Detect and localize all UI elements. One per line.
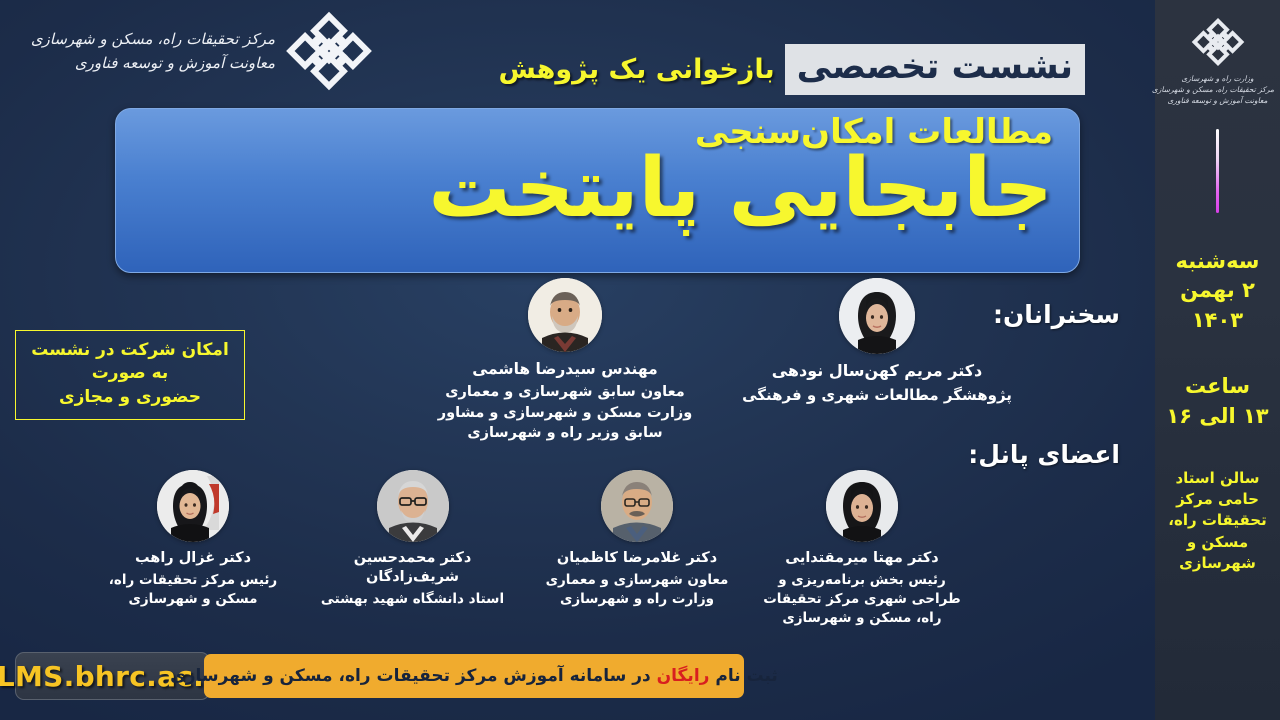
- event-time-value: ۱۳ الی ۱۶: [1155, 402, 1280, 432]
- portrait-man-glasses-gray: [377, 470, 449, 542]
- cta-after-text: در سامانه آموزش مرکز تحقیقات راه، مسکن و…: [170, 666, 656, 686]
- portrait-man-glasses: [601, 470, 673, 542]
- notice-line-2: به صورت: [26, 362, 234, 385]
- panel-member-card: دکتر محمدحسین شریف‌زادگان استاد دانشگاه …: [305, 470, 520, 609]
- avatar: [839, 278, 915, 354]
- kicker-row: نشست تخصصی بازخوانی یک پژوهش: [499, 44, 1085, 95]
- page-title: جابجایی پایتخت: [142, 145, 1053, 234]
- avatar: [826, 470, 898, 542]
- geometric-knot-emblem: [283, 8, 375, 94]
- research-center-logo: مرکز تحقیقات راه، مسکن و شهرسازی معاونت …: [31, 8, 375, 94]
- event-date: سه‌شنبه ۲ بهمن ۱۴۰۳: [1155, 247, 1280, 336]
- panel-member-name: دکتر غلامرضا کاظمیان: [537, 549, 737, 568]
- panel-member-role: رئیس مرکز تحقیقات راه، مسکن و شهرسازی: [88, 571, 298, 609]
- notice-line-3: حضوری و مجازی: [26, 386, 234, 409]
- portrait-woman-hijab: [826, 470, 898, 542]
- logo-line-2: معاونت آموزش و توسعه فناوری: [31, 51, 275, 75]
- avatar: [528, 278, 602, 352]
- portrait-woman-hijab-flag: [157, 470, 229, 542]
- sidebar-ministry-line-1: وزارت راه و شهرسازی: [1161, 74, 1274, 85]
- cta-before-text: ثبت نام: [709, 666, 777, 686]
- event-date-month: ۲ بهمن: [1155, 276, 1280, 306]
- panel-member-card: دکتر غلامرضا کاظمیان معاون شهرسازی و معم…: [537, 470, 737, 609]
- speaker-name: مهندس سیدرضا هاشمی: [430, 359, 700, 379]
- panel-member-card: دکتر مهتا میرمقتدایی رئیس بخش برنامه‌ریز…: [762, 470, 962, 628]
- sidebar-ministry-line-2: مرکز تحقیقات راه، مسکن و شهرسازی: [1161, 85, 1274, 96]
- session-type-badge: نشست تخصصی: [785, 44, 1085, 95]
- speaker-role: پژوهشگر مطالعات شهری و فرهنگی: [727, 385, 1027, 406]
- panel-section-label: اعضای پانل:: [968, 440, 1120, 469]
- panel-member-role: معاون شهرسازی و معماری وزارت راه و شهرسا…: [537, 571, 737, 609]
- panel-member-name: دکتر غزال راهب: [88, 549, 298, 568]
- notice-line-1: امکان شرکت در نشست: [26, 339, 234, 362]
- registration-text: ثبت نام رایگان در سامانه آموزش مرکز تحقی…: [170, 666, 778, 686]
- portrait-man-beard: [528, 278, 602, 352]
- speaker-name: دکتر مریم کهن‌سال نودهی: [727, 361, 1027, 382]
- event-date-day: سه‌شنبه: [1155, 247, 1280, 277]
- portrait-woman-hijab: [839, 278, 915, 354]
- logo-line-1: مرکز تحقیقات راه، مسکن و شهرسازی: [31, 27, 275, 51]
- ministry-logo: وزارت راه و شهرسازی مرکز تحقیقات راه، مس…: [1155, 0, 1280, 107]
- panel-member-card: دکتر غزال راهب رئیس مرکز تحقیقات راه، مس…: [88, 470, 298, 609]
- panel-member-name: دکتر مهتا میرمقتدایی: [762, 549, 962, 568]
- geometric-knot-emblem: [1190, 16, 1246, 68]
- avatar: [157, 470, 229, 542]
- attendance-notice: امکان شرکت در نشست به صورت حضوری و مجازی: [15, 330, 245, 420]
- gradient-divider: [1216, 129, 1219, 213]
- event-date-year: ۱۴۰۳: [1155, 306, 1280, 336]
- speaker-card: مهندس سیدرضا هاشمی معاون سابق شهرسازی و …: [430, 278, 700, 444]
- panel-member-role: استاد دانشگاه شهید بهشتی: [305, 590, 520, 609]
- sidebar-ministry-line-3: معاونت آموزش و توسعه فناوری: [1161, 96, 1274, 107]
- sidebar: وزارت راه و شهرسازی مرکز تحقیقات راه، مس…: [1155, 0, 1280, 720]
- event-time-label: ساعت: [1155, 372, 1280, 402]
- sidebar-ministry-text: وزارت راه و شهرسازی مرکز تحقیقات راه، مس…: [1155, 74, 1280, 107]
- speaker-card: دکتر مریم کهن‌سال نودهی پژوهشگر مطالعات …: [727, 278, 1027, 406]
- session-subtitle: بازخوانی یک پژوهش: [499, 54, 775, 85]
- panel-member-role: رئیس بخش برنامه‌ریزی و طراحی شهری مرکز ت…: [762, 571, 962, 628]
- avatar: [601, 470, 673, 542]
- event-time: ساعت ۱۳ الی ۱۶: [1155, 372, 1280, 432]
- cta-free-text: رایگان: [657, 666, 710, 686]
- research-center-logo-text: مرکز تحقیقات راه، مسکن و شهرسازی معاونت …: [31, 27, 275, 75]
- panel-member-name: دکتر محمدحسین شریف‌زادگان: [305, 549, 520, 587]
- title-box: مطالعات امکان‌سنجی جابجایی پایتخت: [115, 108, 1080, 273]
- event-poster: وزارت راه و شهرسازی مرکز تحقیقات راه، مس…: [0, 0, 1280, 720]
- event-venue: سالن استاد حامی مرکز تحقیقات راه، مسکن و…: [1155, 468, 1280, 574]
- avatar: [377, 470, 449, 542]
- speaker-role: معاون سابق شهرسازی و معماری وزارت مسکن و…: [430, 382, 700, 444]
- registration-banner[interactable]: ثبت نام رایگان در سامانه آموزش مرکز تحقی…: [204, 654, 744, 698]
